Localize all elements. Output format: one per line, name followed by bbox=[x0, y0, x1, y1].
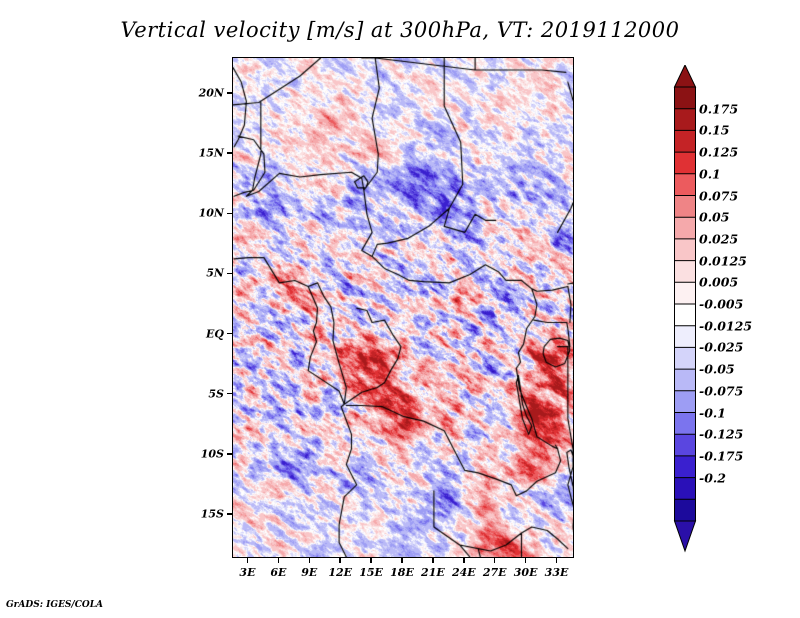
colorbar-tick-label: 0.005 bbox=[699, 275, 738, 290]
colorbar-tick-label: -0.025 bbox=[699, 340, 743, 355]
colorbar-cell bbox=[675, 391, 696, 413]
colorbar-tick-label: -0.2 bbox=[699, 470, 726, 485]
y-axis-tick bbox=[227, 213, 232, 215]
grads-credit: GrADS: IGES/COLA bbox=[6, 600, 103, 610]
colorbar-tick-label: -0.175 bbox=[699, 448, 743, 463]
x-axis-tick bbox=[494, 558, 496, 563]
colorbar-cell bbox=[675, 499, 696, 521]
y-axis-tick-label: 10S bbox=[184, 447, 224, 460]
colorbar-cell bbox=[675, 217, 696, 239]
x-axis-tick bbox=[247, 558, 249, 563]
colorbar-cell bbox=[675, 369, 696, 391]
colorbar-tick-label: 0.1 bbox=[699, 166, 721, 181]
colorbar-tick-label: 0.025 bbox=[699, 231, 738, 246]
y-axis-tick bbox=[227, 393, 232, 395]
y-axis-tick-label: 5N bbox=[184, 267, 224, 280]
colorbar-cell bbox=[675, 282, 696, 304]
colorbar-max-arrow bbox=[675, 65, 696, 87]
colorbar-cell bbox=[675, 87, 696, 109]
x-axis-tick bbox=[401, 558, 403, 563]
x-axis-tick-label: 18E bbox=[390, 566, 414, 579]
y-axis-tick-label: 15N bbox=[184, 147, 224, 160]
colorbar-tick-label: 0.15 bbox=[699, 123, 729, 138]
x-axis-tick bbox=[370, 558, 372, 563]
y-axis-tick bbox=[227, 152, 232, 154]
colorbar-tick-label: 0.175 bbox=[699, 101, 738, 116]
colorbar-cell bbox=[675, 434, 696, 456]
y-axis-tick-label: 20N bbox=[184, 87, 224, 100]
colorbar-tick-label: 0.125 bbox=[699, 145, 738, 160]
x-axis-tick-label: 30E bbox=[514, 566, 538, 579]
colorbar-tick-label: 0.0125 bbox=[699, 253, 747, 268]
x-axis-tick-label: 3E bbox=[239, 566, 255, 579]
x-axis-tick-label: 21E bbox=[421, 566, 445, 579]
colorbar-cell bbox=[675, 326, 696, 348]
x-axis-tick-label: 15E bbox=[359, 566, 383, 579]
x-axis-tick bbox=[525, 558, 527, 563]
x-axis-tick-label: 12E bbox=[328, 566, 352, 579]
colorbar-cell bbox=[675, 196, 696, 218]
colorbar-tick-label: 0.075 bbox=[699, 188, 738, 203]
colorbar-cell bbox=[675, 347, 696, 369]
x-axis-tick bbox=[463, 558, 465, 563]
y-axis-tick-label: EQ bbox=[184, 327, 224, 340]
y-axis-tick-label: 5S bbox=[184, 387, 224, 400]
colorbar-cell bbox=[675, 413, 696, 435]
colorbar-cell bbox=[675, 304, 696, 326]
colorbar-swatches bbox=[673, 65, 697, 553]
y-axis-tick bbox=[227, 453, 232, 455]
colorbar-tick-label: -0.0125 bbox=[699, 318, 752, 333]
y-axis-tick bbox=[227, 92, 232, 94]
x-axis-tick bbox=[309, 558, 311, 563]
colorbar-cell bbox=[675, 152, 696, 174]
colorbar-tick-label: -0.075 bbox=[699, 383, 743, 398]
colorbar-cell bbox=[675, 456, 696, 478]
x-axis-tick-label: 24E bbox=[452, 566, 476, 579]
colorbar-tick-label: -0.1 bbox=[699, 405, 726, 420]
colorbar-cell bbox=[675, 174, 696, 196]
colorbar-legend: 0.1750.150.1250.10.0750.050.0250.01250.0… bbox=[673, 65, 697, 553]
x-axis-tick-label: 9E bbox=[301, 566, 317, 579]
y-axis-tick bbox=[227, 273, 232, 275]
x-axis-tick bbox=[278, 558, 280, 563]
colorbar-tick-label: -0.05 bbox=[699, 362, 735, 377]
colorbar-tick-label: -0.125 bbox=[699, 427, 743, 442]
x-axis-tick bbox=[556, 558, 558, 563]
x-axis-tick bbox=[432, 558, 434, 563]
page-title: Vertical velocity [m/s] at 300hPa, VT: 2… bbox=[0, 18, 800, 42]
y-axis-tick-label: 10N bbox=[184, 207, 224, 220]
colorbar-tick-label: 0.05 bbox=[699, 210, 729, 225]
y-axis-tick-label: 15S bbox=[184, 507, 224, 520]
colorbar-min-arrow bbox=[675, 521, 696, 551]
x-axis-tick-label: 6E bbox=[270, 566, 286, 579]
vertical-velocity-heatmap bbox=[233, 58, 573, 557]
x-axis-tick bbox=[339, 558, 341, 563]
colorbar-cell bbox=[675, 261, 696, 283]
colorbar-cell bbox=[675, 239, 696, 261]
y-axis-tick bbox=[227, 333, 232, 335]
y-axis-tick bbox=[227, 513, 232, 515]
colorbar-cell bbox=[675, 478, 696, 500]
colorbar-cell bbox=[675, 109, 696, 131]
colorbar-tick-label: -0.005 bbox=[699, 297, 743, 312]
map-plot-area bbox=[232, 57, 574, 558]
x-axis-tick-label: 33E bbox=[545, 566, 569, 579]
colorbar-cell bbox=[675, 130, 696, 152]
x-axis-tick-label: 27E bbox=[483, 566, 507, 579]
